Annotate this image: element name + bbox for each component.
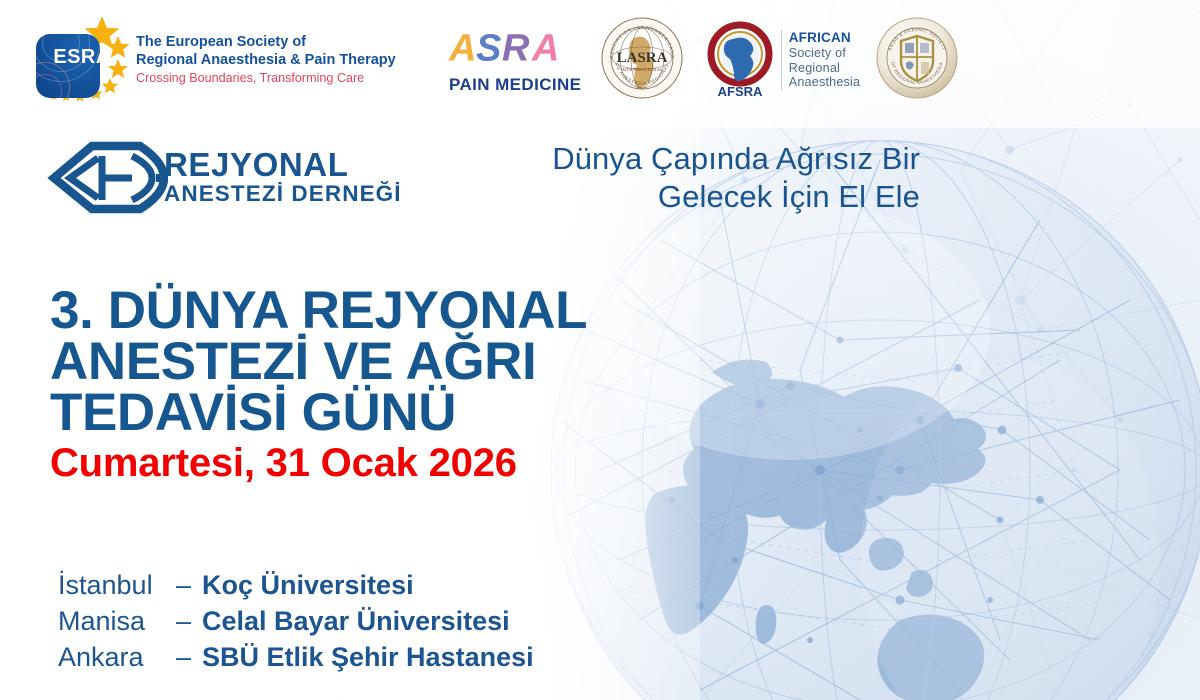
venue-city: İstanbul	[58, 568, 176, 604]
afsra-line-3: Regional	[789, 61, 861, 76]
svg-text:R: R	[502, 28, 530, 70]
afsra-line-2: Society of	[789, 46, 861, 61]
event-title-block: 3. DÜNYA REJYONAL ANESTEZİ VE AĞRI TEDAV…	[50, 286, 587, 483]
venue-place: Celal Bayar Üniversitesi	[202, 604, 510, 640]
afsra-descriptor: AFRICAN Society of Regional Anaesthesia	[781, 30, 861, 91]
event-title-line-3: TEDAVİSİ GÜNÜ	[50, 388, 587, 439]
venue-place: Koç Üniversitesi	[202, 568, 414, 604]
event-date: Cumartesi, 31 Ocak 2026	[50, 443, 587, 483]
logo-asra[interactable]: A S R A PAIN MEDICINE	[448, 25, 583, 95]
logo-rejyonal-anestezi-dernegi[interactable]: REJYONAL ANESTEZİ DERNEĞİ	[40, 138, 402, 216]
logo-afsra[interactable]: AFSRA AFRICAN Society of Regional Anaest…	[703, 20, 861, 100]
rad-line-2: ANESTEZİ DERNEĞİ	[164, 183, 402, 206]
partner-logos-row: ESRA The European Society of Regional An…	[34, 14, 958, 106]
afsra-emblem-icon: AFSRA	[703, 20, 777, 100]
venue-row: İstanbul – Koç Üniversitesi	[58, 568, 534, 604]
logo-esra[interactable]: ESRA The European Society of Regional An…	[34, 14, 396, 106]
esra-line-2: Regional Anaesthesia & Pain Therapy	[136, 52, 396, 70]
shield-seal-icon: ASIAN & OCEANIC SOCIETY OF REGIONAL ANAE…	[876, 17, 958, 99]
slogan-line-1: Dünya Çapında Ağrısız Bir	[470, 140, 920, 178]
venue-place: SBÜ Etlik Şehir Hastanesi	[202, 640, 534, 676]
venue-city: Manisa	[58, 604, 176, 640]
rad-line-1: REJYONAL	[164, 148, 402, 181]
esra-tagline: Crossing Boundaries, Transforming Care	[136, 71, 396, 86]
event-title-line-2: ANESTEZİ VE AĞRI	[50, 337, 587, 388]
slogan-line-2: Gelecek İçin El Ele	[470, 178, 920, 216]
afsra-acronym: AFSRA	[717, 84, 762, 99]
svg-text:A: A	[448, 28, 476, 70]
venue-dash: –	[176, 604, 202, 640]
esra-line-1: The European Society of	[136, 34, 396, 52]
venue-row: Manisa – Celal Bayar Üniversitesi	[58, 604, 534, 640]
svg-text:S: S	[476, 28, 501, 70]
logo-aosra[interactable]: ASIAN & OCEANIC SOCIETY OF REGIONAL ANAE…	[876, 17, 958, 104]
asra-sub-label: PAIN MEDICINE	[448, 75, 583, 95]
asra-wordmark-icon: A S R A	[448, 25, 583, 73]
venue-dash: –	[176, 568, 202, 604]
rad-wordmark: REJYONAL ANESTEZİ DERNEĞİ	[164, 148, 402, 206]
afsra-line-1: AFRICAN	[789, 30, 861, 46]
venue-list: İstanbul – Koç Üniversitesi Manisa – Cel…	[58, 568, 534, 676]
rad-monogram-icon	[40, 138, 168, 216]
lasra-seal-icon: LASRA INTERNACIONAL ASOCIACION LATINOAME…	[601, 17, 683, 99]
venue-city: Ankara	[58, 640, 176, 676]
svg-text:INTERNACIONAL: INTERNACIONAL	[621, 67, 664, 72]
poster-canvas: ESRA The European Society of Regional An…	[0, 0, 1200, 700]
venue-dash: –	[176, 640, 202, 676]
slogan: Dünya Çapında Ağrısız Bir Gelecek İçin E…	[470, 140, 920, 216]
svg-text:A: A	[531, 28, 559, 70]
venue-row: Ankara – SBÜ Etlik Şehir Hastanesi	[58, 640, 534, 676]
afsra-line-4: Anaesthesia	[789, 75, 861, 90]
esra-descriptor: The European Society of Regional Anaesth…	[136, 34, 396, 86]
event-title-line-1: 3. DÜNYA REJYONAL	[50, 286, 587, 337]
esra-mark: ESRA	[34, 14, 130, 106]
esra-wordmark: ESRA	[34, 46, 130, 69]
lasra-acronym: LASRA	[616, 50, 667, 66]
logo-lasra[interactable]: LASRA INTERNACIONAL ASOCIACION LATINOAME…	[601, 17, 683, 104]
